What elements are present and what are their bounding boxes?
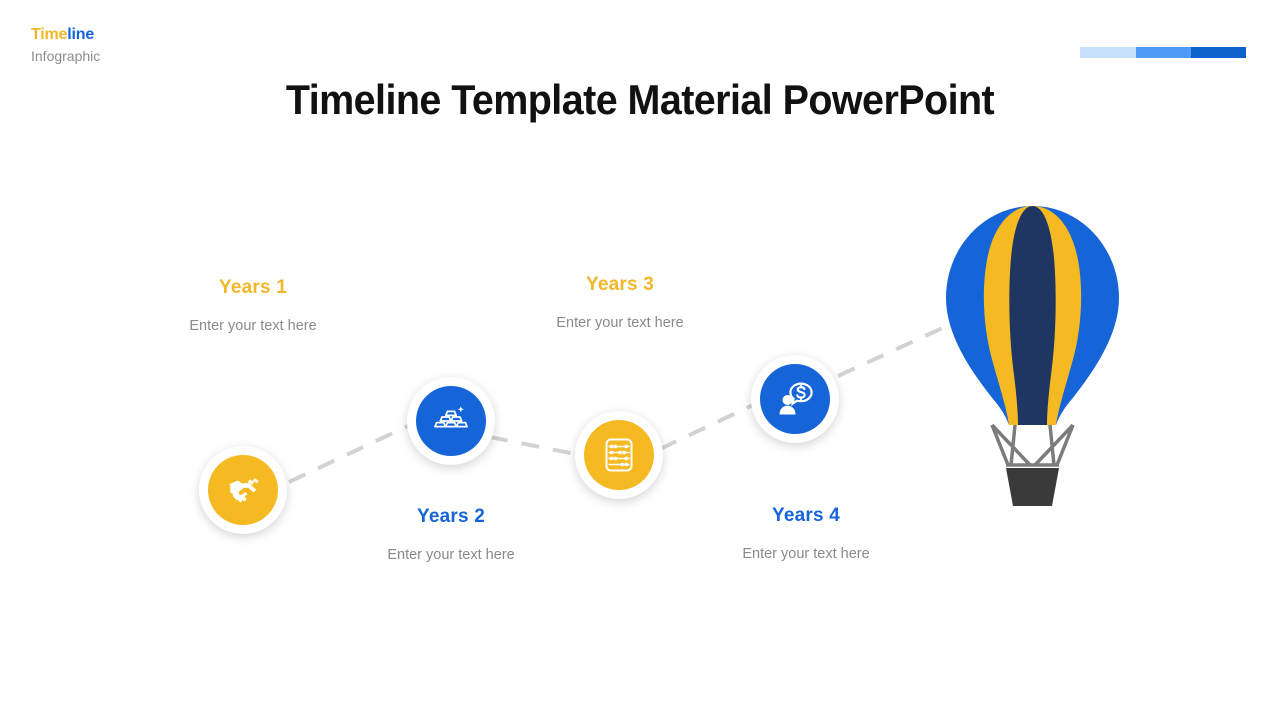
- milestone-icon-circle-2: [416, 386, 486, 456]
- milestone-body-text-4: Enter your text here: [686, 546, 926, 562]
- milestone-label-years-4: Years 4 Enter your text here: [686, 505, 926, 562]
- milestone-icon-circle-1: [208, 455, 278, 525]
- milestone-body-text-3: Enter your text here: [500, 315, 740, 331]
- handshake-icon: [223, 470, 263, 510]
- milestone-icon-circle-3: [584, 420, 654, 490]
- person-money-bubble-icon: [775, 380, 815, 418]
- gold-bars-icon: [432, 402, 470, 440]
- milestone-node-years-2[interactable]: [407, 377, 495, 465]
- slide-canvas: Timeline Infographic Timeline Template M…: [0, 0, 1280, 720]
- milestone-year-label-1: Years 1: [133, 277, 373, 299]
- milestone-node-years-3[interactable]: [575, 411, 663, 499]
- hot-air-balloon-illustration: [925, 203, 1140, 513]
- abacus-icon: [601, 436, 637, 474]
- dash-segment-3-4: [660, 404, 755, 449]
- timeline-infographic: Years 1 Enter your text here Years 2 Ent…: [0, 0, 1280, 720]
- milestone-label-years-1: Years 1 Enter your text here: [133, 277, 373, 334]
- milestone-year-label-2: Years 2: [331, 506, 571, 528]
- milestone-body-text-2: Enter your text here: [331, 547, 571, 563]
- dash-segment-1-2: [289, 424, 412, 482]
- milestone-icon-circle-4: [760, 364, 830, 434]
- milestone-node-years-1[interactable]: [199, 446, 287, 534]
- dash-segment-2-3: [490, 437, 580, 455]
- milestone-label-years-3: Years 3 Enter your text here: [500, 274, 740, 331]
- milestone-label-years-2: Years 2 Enter your text here: [331, 506, 571, 563]
- milestone-node-years-4[interactable]: [751, 355, 839, 443]
- milestone-year-label-3: Years 3: [500, 274, 740, 296]
- milestone-year-label-4: Years 4: [686, 505, 926, 527]
- milestone-body-text-1: Enter your text here: [133, 318, 373, 334]
- hot-air-balloon-icon: [925, 203, 1140, 513]
